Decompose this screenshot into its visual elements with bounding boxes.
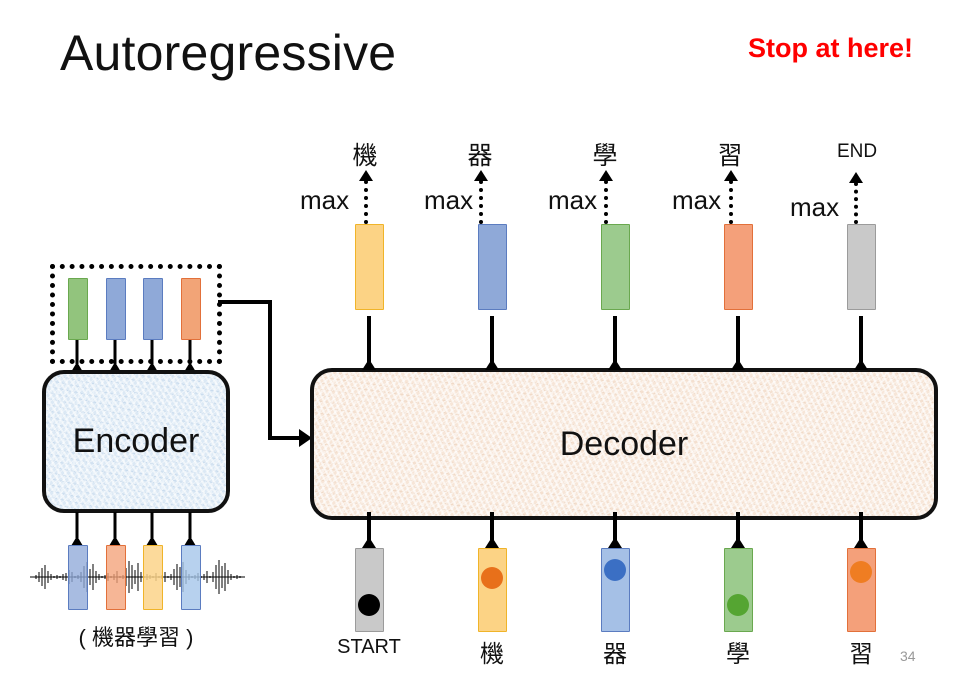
decoder-label: Decoder <box>560 425 689 464</box>
output-token-1: 機 <box>335 136 395 172</box>
output-dotted-arrow-2 <box>474 170 488 224</box>
decoder-input-arrow-1 <box>362 512 376 548</box>
encoder-label: Encoder <box>73 422 200 461</box>
decoder-block[interactable]: Decoder <box>310 368 938 520</box>
output-dotted-arrow-4 <box>724 170 738 224</box>
connector-horizontal-top <box>218 300 272 304</box>
encoder-output-arrow-2 <box>108 340 122 372</box>
output-distribution-4 <box>724 224 753 310</box>
page-title: Autoregressive <box>60 24 396 82</box>
encoder-input-arrow-4 <box>183 512 197 546</box>
decoder-input-label-4: 學 <box>708 634 768 669</box>
encoder-vector-2 <box>106 278 126 340</box>
output-distribution-5 <box>847 224 876 310</box>
decoder-input-bar-4 <box>724 548 753 632</box>
max-label-4: max <box>672 185 721 216</box>
output-distribution-3 <box>601 224 630 310</box>
output-token-5: END <box>822 141 892 163</box>
decoder-input-dot-3 <box>604 559 626 581</box>
output-token-4: 習 <box>700 136 760 172</box>
speech-segment-2 <box>106 545 126 610</box>
decoder-input-arrow-4 <box>731 512 745 548</box>
encoder-input-arrow-2 <box>108 512 122 546</box>
decoder-input-arrow-5 <box>854 512 868 548</box>
decoder-input-bar-1 <box>355 548 384 632</box>
connector-vertical <box>268 300 272 440</box>
decoder-input-dot-4 <box>727 594 749 616</box>
output-dotted-arrow-5 <box>849 172 863 224</box>
decoder-output-arrow-3 <box>608 316 622 370</box>
max-label-3: max <box>548 185 597 216</box>
encoder-block[interactable]: Encoder <box>42 370 230 513</box>
decoder-output-arrow-4 <box>731 316 745 370</box>
page-number: 34 <box>900 648 916 664</box>
stop-at-here-note: Stop at here! <box>748 33 913 64</box>
speech-segment-3 <box>143 545 163 610</box>
encoder-output-arrow-3 <box>145 340 159 372</box>
encoder-input-arrow-3 <box>145 512 159 546</box>
output-token-3: 學 <box>575 136 635 172</box>
speech-segment-4 <box>181 545 201 610</box>
output-distribution-1 <box>355 224 384 310</box>
decoder-input-arrow-2 <box>485 512 499 548</box>
decoder-output-arrow-1 <box>362 316 376 370</box>
encoder-vector-3 <box>143 278 163 340</box>
connector-horizontal-bottom <box>268 436 301 440</box>
speech-caption: ( 機器學習 ) <box>38 620 234 652</box>
decoder-input-label-1: START <box>330 636 408 659</box>
output-distribution-2 <box>478 224 507 310</box>
decoder-input-bar-2 <box>478 548 507 632</box>
output-dotted-arrow-1 <box>359 170 373 224</box>
max-label-1: max <box>300 185 349 216</box>
max-label-5: max <box>790 192 839 223</box>
decoder-output-arrow-5 <box>854 316 868 370</box>
decoder-input-label-3: 器 <box>585 634 645 669</box>
encoder-output-arrow-1 <box>70 340 84 372</box>
decoder-input-dot-5 <box>850 561 872 583</box>
speech-waveform <box>30 552 245 602</box>
output-token-2: 器 <box>450 136 510 172</box>
decoder-input-dot-2 <box>481 567 503 589</box>
decoder-input-arrow-3 <box>608 512 622 548</box>
output-dotted-arrow-3 <box>599 170 613 224</box>
decoder-input-label-5: 習 <box>831 634 891 669</box>
encoder-vector-1 <box>68 278 88 340</box>
speech-segment-1 <box>68 545 88 610</box>
decoder-input-dot-1 <box>358 594 380 616</box>
decoder-input-label-2: 機 <box>462 634 522 669</box>
decoder-output-arrow-2 <box>485 316 499 370</box>
max-label-2: max <box>424 185 473 216</box>
encoder-input-arrow-1 <box>70 512 84 546</box>
encoder-output-arrow-4 <box>183 340 197 372</box>
encoder-vector-4 <box>181 278 201 340</box>
